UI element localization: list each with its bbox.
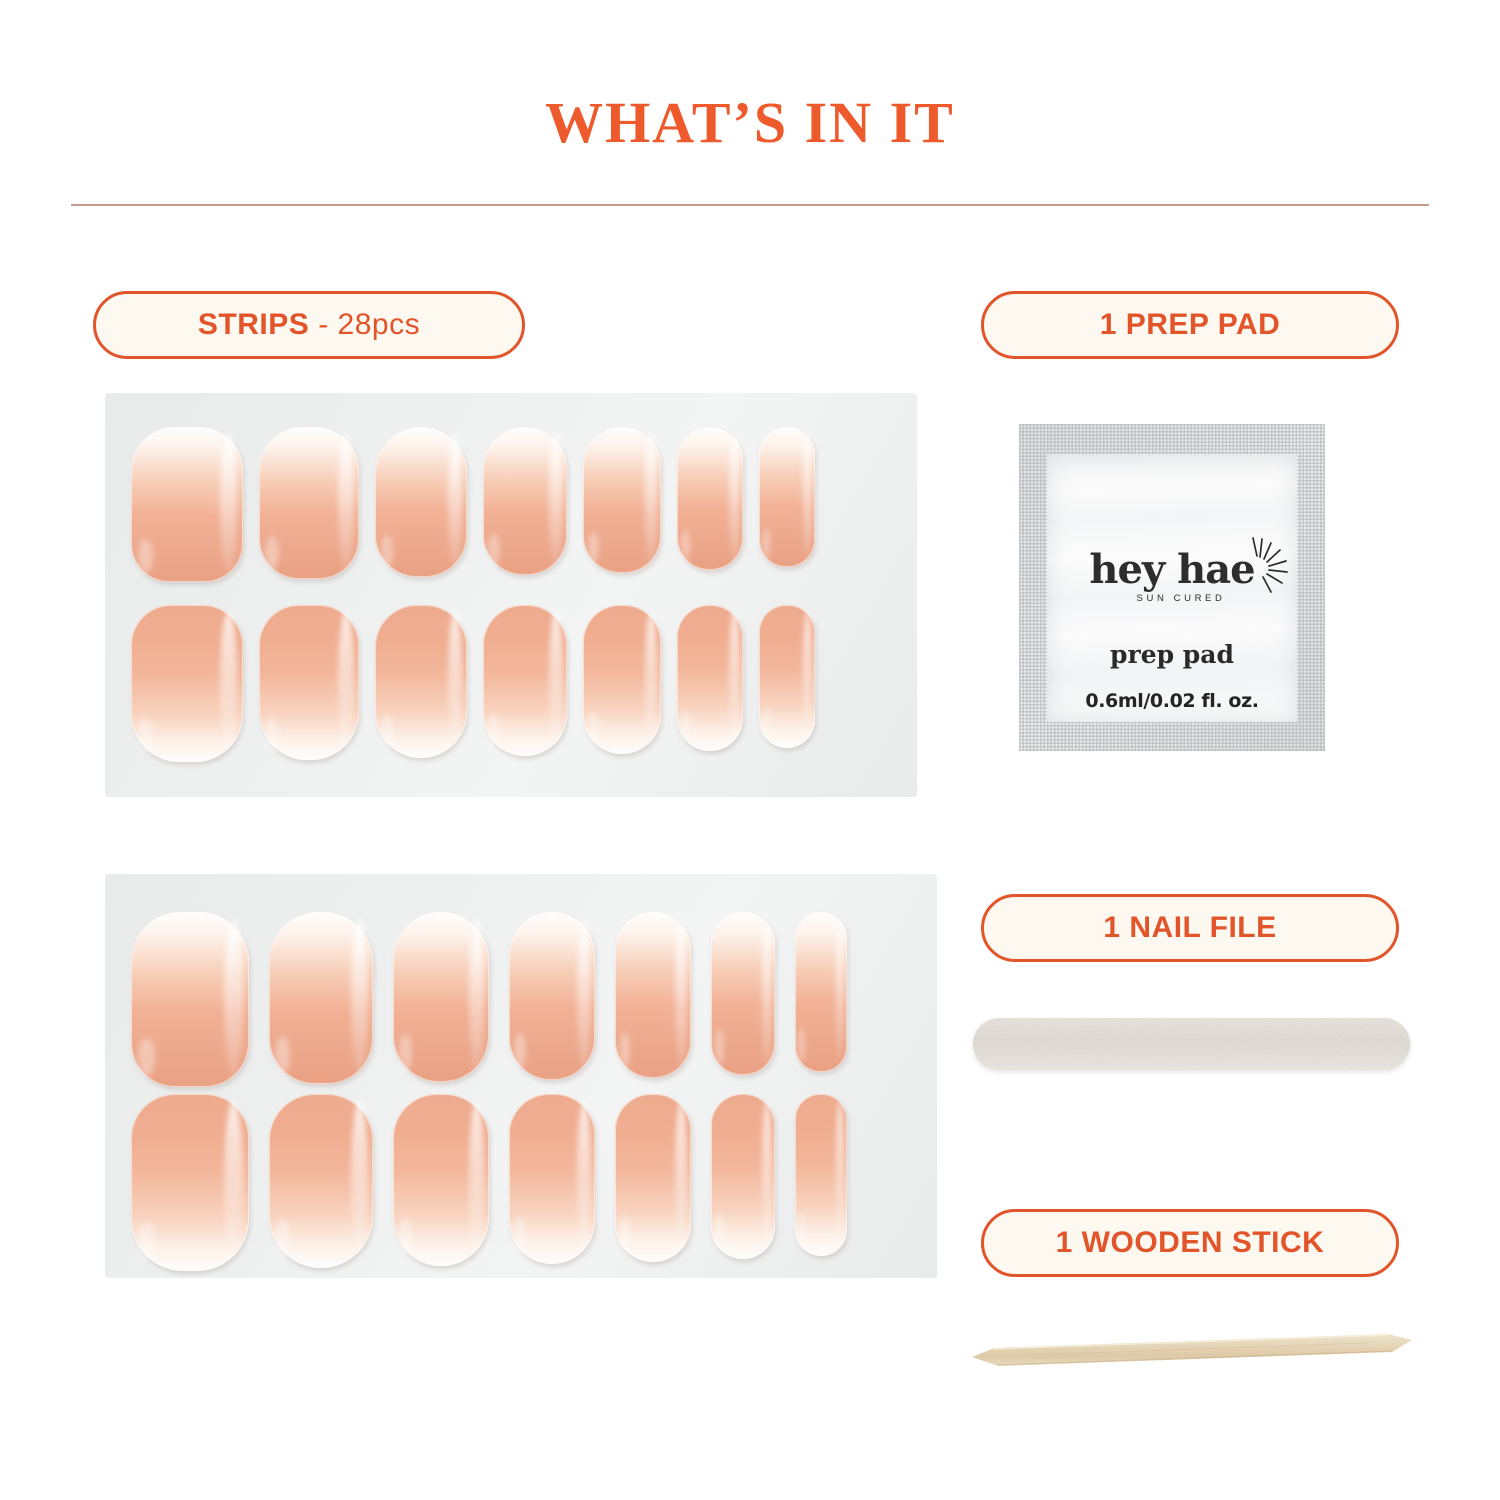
nail-strip-sheet-1 [105, 393, 917, 797]
nail-strip [131, 1094, 249, 1271]
header-divider [71, 204, 1429, 206]
nail-strip [677, 427, 743, 570]
nail-row [131, 1094, 847, 1271]
nail-strip [131, 912, 249, 1087]
sunburst-icon [1233, 536, 1289, 596]
nail-strip [483, 605, 567, 756]
nail-strip [509, 1094, 595, 1264]
nail-strip-sheet-2 [105, 874, 937, 1278]
nail-strip [711, 1094, 775, 1259]
badge-strips-bold-label: STRIPS [198, 308, 309, 342]
wooden-stick-image [968, 1327, 1418, 1381]
prep-pad-product-label: prep pad [1047, 640, 1297, 669]
nail-strip [375, 427, 467, 577]
nail-strip [375, 605, 467, 758]
nail-strip [259, 427, 359, 579]
nail-strip [131, 427, 243, 582]
nail-row [131, 605, 815, 762]
nail-row [131, 427, 815, 582]
badge-wooden-stick: 1 WOODEN STICK [981, 1209, 1399, 1277]
badge-prep-pad: 1 PREP PAD [981, 291, 1399, 359]
nail-row [131, 912, 847, 1087]
nail-strip [483, 427, 567, 575]
badge-nail-file: 1 NAIL FILE [981, 894, 1399, 962]
nail-strip [759, 605, 815, 748]
nail-strip [795, 1094, 847, 1256]
prep-pad-packet: hey hae SUN CURED [1019, 424, 1325, 751]
nail-strip [509, 912, 595, 1080]
badge-prep-pad-label: 1 PREP PAD [1100, 308, 1281, 342]
nail-strip [393, 912, 489, 1082]
prep-pad-packet-face: hey hae SUN CURED [1047, 454, 1297, 722]
nail-strip [393, 1094, 489, 1266]
badge-strips: STRIPS - 28pcs [93, 291, 525, 359]
badge-nail-file-label: 1 NAIL FILE [1103, 911, 1276, 945]
nail-strip [583, 605, 661, 754]
nail-strip [269, 1094, 373, 1268]
nail-strip [259, 605, 359, 760]
prep-pad-volume: 0.6ml/0.02 fl. oz. [1047, 690, 1297, 712]
nail-strip [711, 912, 775, 1075]
nail-strip [269, 912, 373, 1084]
nail-strip [131, 605, 243, 762]
nail-strip [759, 427, 815, 567]
nail-strip [583, 427, 661, 573]
nail-strip [615, 912, 691, 1078]
nail-strip [795, 912, 847, 1072]
badge-strips-count-label: - 28pcs [318, 308, 420, 342]
whats-in-it-infographic: WHAT’S IN IT STRIPS - 28pcs 1 PREP PAD 1… [0, 0, 1500, 1500]
page-title: WHAT’S IN IT [0, 94, 1500, 152]
nail-file-image [973, 1018, 1410, 1070]
badge-wooden-stick-label: 1 WOODEN STICK [1056, 1226, 1325, 1260]
brand-name: hey hae [1089, 550, 1254, 590]
brand-logo: hey hae SUN CURED [1047, 550, 1297, 606]
nail-strip [615, 1094, 691, 1262]
nail-strip [677, 605, 743, 751]
